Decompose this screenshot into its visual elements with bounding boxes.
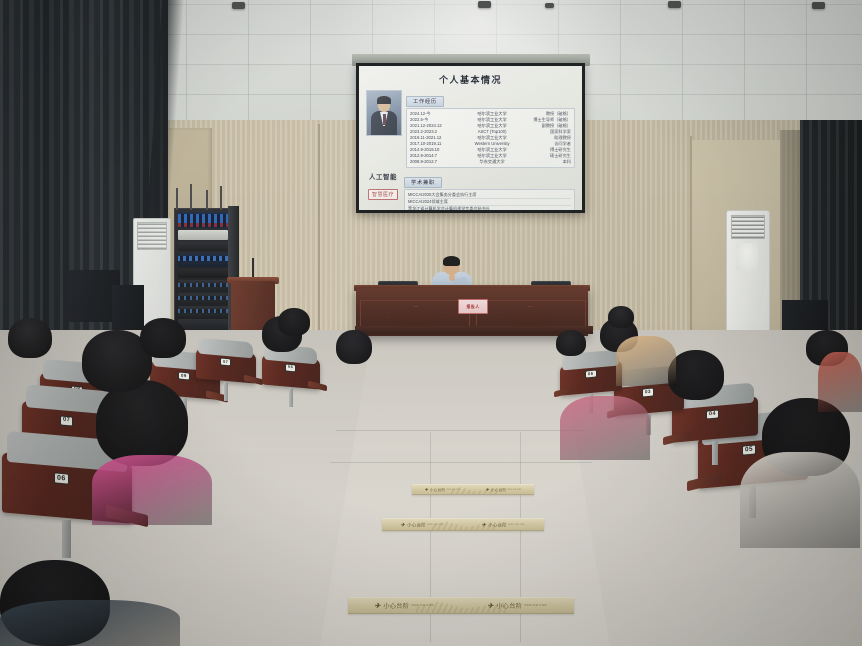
step-warning-label: 小心台阶 — [488, 521, 507, 528]
name-plate-text: 报告人 — [459, 300, 487, 313]
recessed-downlight — [478, 1, 491, 8]
seat-number-plate: 07 — [60, 415, 73, 426]
wall-seam — [690, 136, 692, 336]
air-conditioner-panel — [736, 243, 758, 271]
academic-appointment-line: MICCAI2024领域主席 — [408, 199, 571, 206]
work-history-table: 2024.12-今哈尔滨工业大学教授（破格）2022.5-今哈尔滨工业大学博士生… — [410, 111, 571, 165]
audience-member — [96, 380, 188, 466]
audience-member — [140, 318, 186, 358]
recessed-downlight — [232, 2, 245, 9]
rack-unit-amp2[interactable] — [178, 280, 228, 291]
rack-unit-amp5[interactable] — [178, 319, 228, 330]
floor-tile-line — [330, 462, 592, 463]
antenna — [190, 184, 192, 210]
recessed-downlight — [812, 2, 825, 9]
antenna — [206, 190, 208, 210]
presenter-name-plate: 报告人 — [458, 299, 488, 314]
step-warning-label: 小心台阶 — [383, 601, 409, 610]
presenter-hair — [443, 256, 460, 266]
slide-portrait-photo — [366, 90, 402, 136]
step-warning-text: ✈小心台阶MIND THE STEP — [488, 601, 547, 610]
auditorium-seat[interactable]: 07 — [196, 340, 256, 404]
audience-clothing — [560, 396, 650, 460]
audience-clothing — [616, 336, 676, 386]
audience-member — [278, 308, 310, 336]
seat-number-plate: 09 — [178, 372, 190, 381]
portrait-hair — [377, 96, 391, 104]
step-warning-sublabel: MIND THE STEP — [428, 523, 444, 525]
audience-member — [336, 330, 372, 364]
rack-unit-amplifier[interactable] — [178, 230, 228, 240]
step-warning-text: ✈小心台阶MIND THE STEP — [375, 601, 434, 610]
auditorium-seat[interactable]: 06 — [262, 346, 320, 410]
step-warning-label: 小心台阶 — [491, 487, 507, 492]
audience-clothing — [0, 600, 180, 646]
air-conditioner-vent — [731, 215, 765, 239]
antenna — [176, 188, 178, 210]
step-warning-strip: ✈小心台阶MIND THE STEP✈小心台阶MIND THE STEP — [412, 484, 534, 495]
work-history-row: 2021.12-2024.12哈尔滨工业大学副教授（破格） — [410, 123, 571, 129]
seat-leg — [224, 382, 228, 401]
seat-number-plate: 06 — [54, 472, 69, 484]
presentation-slide: 个人基本情况 工作经历 2024.12-今哈尔滨工业大学教授（破格）2022.5… — [359, 66, 582, 210]
slide-ai-label: 人工智能 — [366, 171, 400, 181]
seat-leg — [712, 441, 718, 466]
lecture-hall-photo: 个人基本情况 工作经历 2024.12-今哈尔滨工业大学教授（破格）2022.5… — [0, 0, 862, 646]
step-warning-strip: ✈小心台阶MIND THE STEP✈小心台阶MIND THE STEP — [382, 518, 544, 531]
step-warning-sublabel: MIND THE STEP — [524, 604, 547, 607]
step-warning-label: 小心台阶 — [407, 521, 426, 528]
audience-clothing — [818, 352, 862, 412]
step-warning-logo-icon: ✈ — [487, 602, 495, 610]
slide-section-academic-label: 学术兼职 — [404, 177, 442, 188]
recessed-downlight — [545, 3, 554, 8]
work-org: 华东交通大学 — [460, 159, 524, 165]
slide-section-work-label: 工作经历 — [406, 96, 444, 107]
audience-clothing — [92, 455, 212, 525]
step-warning-text: ✈小心台阶MIND THE STEP — [401, 521, 444, 528]
rack-unit-blank — [178, 242, 228, 251]
academic-appointment-line: MICCAI2025大会集务分委会执行主席 — [408, 192, 571, 199]
step-warning-sublabel: MIND THE STEP — [447, 489, 461, 491]
slide-ai-box: 人工智能 智慧医疗 — [366, 171, 400, 210]
portrait-tie — [383, 114, 386, 125]
step-warning-text: ✈小心台阶MIND THE STEP — [482, 521, 525, 528]
work-history-row: 2008.9-2012.7华东交通大学本科 — [410, 159, 571, 165]
step-warning-logo-icon: ✈ — [400, 522, 406, 528]
seat-number-plate: 06 — [285, 364, 296, 373]
step-warning-logo-icon: ✈ — [485, 487, 490, 492]
rack-unit-player[interactable] — [178, 269, 228, 278]
seat-number-plate: 05 — [585, 370, 597, 379]
seat-number-plate: 07 — [220, 358, 231, 367]
projection-screen: 个人基本情况 工作经历 2024.12-今哈尔滨工业大学教授（破格）2022.5… — [359, 66, 582, 210]
slide-title: 个人基本情况 — [366, 73, 575, 86]
seat-number-plate: 03 — [642, 388, 654, 398]
step-warning-text: ✈小心台阶MIND THE STEP — [425, 487, 460, 492]
audience-member — [668, 350, 724, 400]
slide-academic-box: 学术兼职 MICCAI2025大会集务分委会执行主席MICCAI2024领域主席… — [404, 171, 575, 210]
rack-unit-processor[interactable] — [178, 253, 228, 267]
step-warning-sublabel: MIND THE STEP — [508, 489, 522, 491]
slide-ai-pill: 智慧医疗 — [368, 189, 398, 200]
step-warning-label: 小心台阶 — [430, 487, 446, 492]
step-warning-label: 小心台阶 — [496, 601, 522, 610]
presenter-hand — [449, 274, 455, 281]
audience-member — [8, 318, 52, 358]
step-warning-text: ✈小心台阶MIND THE STEP — [486, 487, 521, 492]
floor-tile-line — [336, 430, 584, 431]
step-warning-sublabel: MIND THE STEP — [411, 604, 434, 607]
academic-appointment-line: 黑龙江省计算机学会计算机视觉专委会秘书长 — [408, 206, 571, 210]
slide-academic-card: MICCAI2025大会集务分委会执行主席MICCAI2024领域主席黑龙江省计… — [404, 189, 575, 210]
head-table-base — [355, 326, 593, 334]
slide-work-history-card: 2024.12-今哈尔滨工业大学教授（破格）2022.5-今哈尔滨工业大学博士生… — [406, 108, 575, 168]
wall-seam — [318, 124, 320, 336]
work-role: 本科 — [524, 159, 571, 165]
work-date: 2008.9-2012.7 — [410, 159, 460, 165]
seat-leg — [289, 388, 293, 407]
step-warning-logo-icon: ✈ — [424, 487, 429, 492]
step-warning-logo-icon: ✈ — [481, 522, 487, 528]
air-conditioner-vent — [137, 222, 167, 250]
antenna — [220, 186, 222, 210]
audience-member — [608, 306, 634, 328]
recessed-downlight — [668, 1, 681, 8]
audience-member — [556, 330, 586, 356]
seat-number-plate: 04 — [706, 409, 719, 419]
step-warning-logo-icon: ✈ — [374, 602, 382, 610]
seat-leg — [62, 520, 71, 558]
audience-clothing — [740, 452, 860, 548]
step-warning-strip: ✈小心台阶MIND THE STEP✈小心台阶MIND THE STEP — [348, 597, 574, 614]
rack-unit-mixer[interactable] — [178, 212, 228, 228]
rack-unit-amp3[interactable] — [178, 293, 228, 304]
rack-unit-amp4[interactable] — [178, 306, 228, 317]
step-warning-sublabel: MIND THE STEP — [509, 523, 525, 525]
